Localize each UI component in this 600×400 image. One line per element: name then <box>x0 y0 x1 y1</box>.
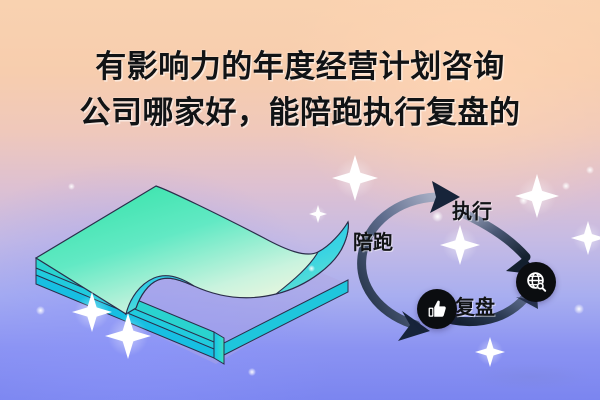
title-line-1: 有影响力的年度经营计划咨询 <box>0 44 600 90</box>
title-line-2: 公司哪家好，能陪跑执行复盘的 <box>0 90 600 136</box>
light-dot <box>586 166 594 174</box>
poster-title: 有影响力的年度经营计划咨询 公司哪家好，能陪跑执行复盘的 <box>0 44 600 136</box>
diagram-label-peipao: 陪跑 <box>353 226 393 255</box>
diagram-label-zhixing: 执行 <box>452 195 492 224</box>
thumbs-up-icon <box>417 289 457 329</box>
light-dot <box>248 368 256 376</box>
layered-sheet-illustration <box>18 168 358 368</box>
watermark-smudge <box>470 364 590 390</box>
globe-search-icon <box>516 262 556 302</box>
diagram-label-fupan: 复盘 <box>455 291 495 320</box>
sheet-front-edge <box>214 332 224 364</box>
poster-canvas: 有影响力的年度经营计划咨询 公司哪家好，能陪跑执行复盘的 <box>0 0 600 400</box>
